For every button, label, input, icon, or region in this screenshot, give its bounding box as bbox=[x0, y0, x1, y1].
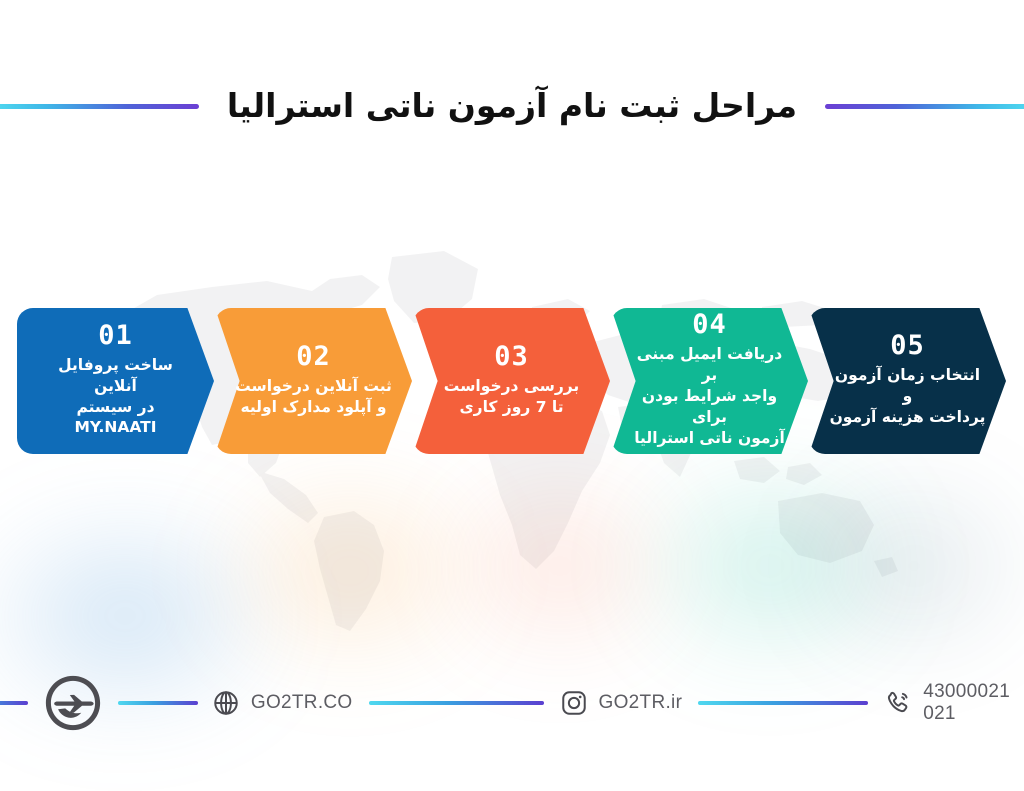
step-card-04[interactable]: 04دریافت ایمیل مبنی برواجد شرایط بودن بر… bbox=[611, 308, 808, 454]
step-card-content: 03بررسی درخواستتا 7 روز کاری bbox=[444, 343, 579, 418]
phone-icon bbox=[884, 689, 912, 717]
steps-flow: 01ساخت پروفایل آنلایندر سیستم MY.NAATI02… bbox=[18, 308, 1006, 454]
step-description-line: ساخت پروفایل آنلاین bbox=[37, 355, 195, 397]
contact-instagram[interactable]: GO2TR.ir bbox=[560, 689, 683, 717]
step-description: بررسی درخواستتا 7 روز کاری bbox=[444, 376, 579, 418]
step-card-content: 01ساخت پروفایل آنلایندر سیستم MY.NAATI bbox=[37, 322, 195, 439]
step-description-line: و آپلود مدارک اولیه bbox=[235, 397, 392, 418]
infographic-canvas: مراحل ثبت نام آزمون ناتی استرالیا 01ساخت… bbox=[0, 0, 1024, 791]
glow-red bbox=[430, 461, 690, 671]
footer-rule-1 bbox=[0, 701, 28, 705]
step-card-content: 05انتخاب زمان آزمون وپرداخت هزینه آزمون bbox=[829, 332, 987, 428]
footer-rule-4 bbox=[698, 701, 868, 705]
step-description-line: پرداخت هزینه آزمون bbox=[829, 407, 987, 428]
glow-orange bbox=[200, 461, 500, 681]
step-description: انتخاب زمان آزمون وپرداخت هزینه آزمون bbox=[829, 365, 987, 428]
step-card-03[interactable]: 03بررسی درخواستتا 7 روز کاری bbox=[413, 308, 610, 454]
step-card-content: 04دریافت ایمیل مبنی برواجد شرایط بودن بر… bbox=[631, 311, 789, 449]
step-description-line: واجد شرایط بودن برای bbox=[631, 386, 789, 428]
instagram-icon bbox=[560, 689, 588, 717]
step-number: 04 bbox=[692, 311, 727, 338]
step-description-line: انتخاب زمان آزمون و bbox=[829, 365, 987, 407]
step-card-01[interactable]: 01ساخت پروفایل آنلایندر سیستم MY.NAATI bbox=[17, 308, 214, 454]
footer-rule-2 bbox=[118, 701, 198, 705]
step-description-line: در سیستم MY.NAATI bbox=[37, 397, 195, 439]
glow-teal bbox=[620, 451, 920, 681]
instagram-label: GO2TR.ir bbox=[599, 692, 683, 714]
globe-icon bbox=[212, 689, 240, 717]
go2tr-plane-logo bbox=[42, 672, 104, 734]
step-description-line: ثبت آنلاین درخواست bbox=[235, 376, 392, 397]
step-description: ساخت پروفایل آنلایندر سیستم MY.NAATI bbox=[37, 355, 195, 439]
title-row: مراحل ثبت نام آزمون ناتی استرالیا bbox=[0, 78, 1024, 134]
step-description-line: آزمون ناتی استرالیا bbox=[631, 428, 789, 449]
step-number: 01 bbox=[98, 322, 133, 349]
step-card-02[interactable]: 02ثبت آنلاین درخواستو آپلود مدارک اولیه bbox=[215, 308, 412, 454]
page-title: مراحل ثبت نام آزمون ناتی استرالیا bbox=[209, 88, 815, 124]
website-label: GO2TR.CO bbox=[251, 692, 353, 714]
contact-website[interactable]: GO2TR.CO bbox=[212, 689, 353, 717]
footer-bar: GO2TR.CO GO2TR.ir 430000 bbox=[0, 673, 1024, 733]
title-rule-left bbox=[825, 104, 1024, 109]
footer-rule-3 bbox=[369, 701, 544, 705]
step-description-line: بررسی درخواست bbox=[444, 376, 579, 397]
step-description-line: تا 7 روز کاری bbox=[444, 397, 579, 418]
step-description: دریافت ایمیل مبنی برواجد شرایط بودن برای… bbox=[631, 344, 789, 449]
step-number: 03 bbox=[494, 343, 529, 370]
phone-label: 43000021 021 bbox=[923, 681, 1010, 725]
step-card-content: 02ثبت آنلاین درخواستو آپلود مدارک اولیه bbox=[235, 343, 392, 418]
step-number: 05 bbox=[890, 332, 925, 359]
step-description: ثبت آنلاین درخواستو آپلود مدارک اولیه bbox=[235, 376, 392, 418]
step-card-05[interactable]: 05انتخاب زمان آزمون وپرداخت هزینه آزمون bbox=[809, 308, 1006, 454]
glow-navy bbox=[784, 461, 1024, 671]
step-description-line: دریافت ایمیل مبنی بر bbox=[631, 344, 789, 386]
title-rule-right bbox=[0, 104, 199, 109]
step-number: 02 bbox=[296, 343, 331, 370]
contact-phone[interactable]: 43000021 021 bbox=[884, 681, 1010, 725]
